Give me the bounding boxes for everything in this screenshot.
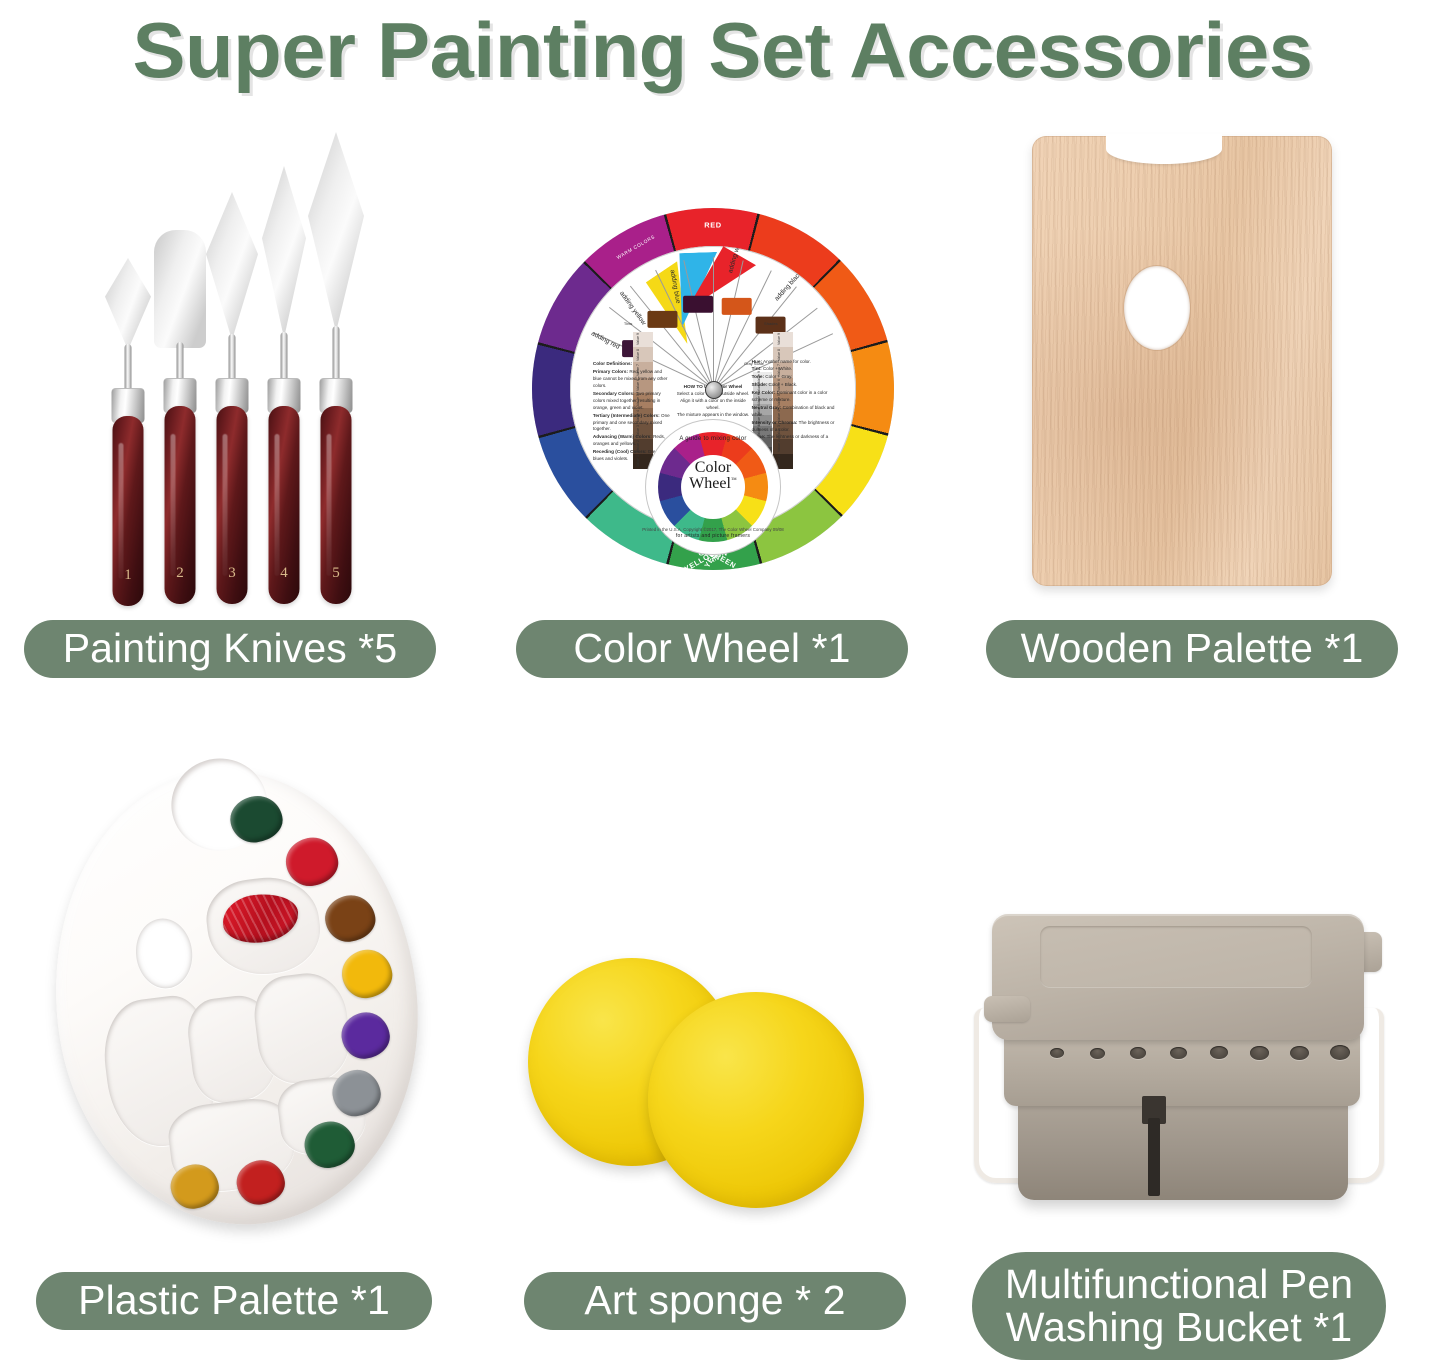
knife-number-label: 2	[165, 565, 196, 582]
value-scale-label: Value 9	[777, 333, 781, 345]
palette-knife-5: 5	[316, 120, 356, 610]
page-title: Super Painting Set Accessories	[0, 2, 1445, 98]
knife-shank	[333, 326, 340, 384]
product-plastic-palette	[30, 740, 450, 1260]
value-scale-label: Value 9	[636, 333, 640, 345]
trademark-symbol: ™	[731, 478, 737, 484]
bucket-base	[1018, 1090, 1348, 1200]
product-wooden-palette	[980, 120, 1420, 610]
label-color-wheel: Color Wheel *1	[516, 620, 908, 678]
bucket-lid-hinge	[984, 996, 1030, 1022]
knife-handle: 4	[269, 406, 300, 604]
knife-number-label: 1	[113, 567, 144, 584]
brush-hole	[1130, 1047, 1146, 1059]
color-wheel-illustration: REDRED-ORANGEORANGEYELLOW-ORANGEYELLOWYE…	[532, 208, 894, 570]
knife-number-label: 4	[269, 565, 300, 582]
wheel-mix-swatch	[647, 311, 677, 328]
brush-hole	[1250, 1046, 1269, 1060]
value-swatch: Value 9	[773, 332, 793, 347]
bucket-lid-inset	[1040, 926, 1312, 988]
wheel-mix-label: adding red	[590, 330, 621, 351]
palette-knife-4: 4	[264, 120, 304, 610]
knife-handle: 5	[321, 406, 352, 604]
palette-knife-1: 1	[108, 120, 148, 610]
product-washing-bucket	[940, 890, 1410, 1230]
wheel-footer: Printed in the U.S.A. Copyright ©2017, T…	[532, 527, 894, 532]
value-scale-caption: Tints	[624, 321, 633, 326]
color-wheel-hub	[705, 381, 723, 399]
color-wheel-center-disc: A guide to mixing color Color Wheel™ for…	[646, 420, 780, 554]
product-art-sponge	[500, 930, 920, 1260]
label-wooden-palette: Wooden Palette *1	[986, 620, 1398, 678]
sponge-disc	[648, 992, 864, 1208]
bucket-illustration	[954, 900, 1394, 1220]
wheel-mix-label: adding black	[773, 270, 803, 302]
wooden-palette-thumb-hole	[1124, 266, 1190, 350]
product-color-wheel: REDRED-ORANGEORANGEYELLOW-ORANGEYELLOWYE…	[500, 120, 920, 610]
painting-knives-illustration: 12345	[30, 120, 440, 610]
knife-number-label: 5	[321, 565, 352, 582]
label-art-sponge: Art sponge * 2	[524, 1272, 906, 1330]
color-terms-text: Hue: Another name for color.Tint: Color …	[752, 358, 835, 449]
knife-blade	[308, 132, 364, 332]
value-swatch: Value 9	[633, 332, 653, 347]
brush-hole	[1170, 1047, 1187, 1059]
product-painting-knives: 12345	[30, 120, 440, 610]
wheel-brand-line1: Color	[695, 459, 731, 476]
knife-handle: 1	[113, 416, 144, 606]
knife-blade	[154, 230, 206, 348]
plastic-palette-body	[30, 750, 443, 1245]
knife-blade	[206, 192, 258, 340]
wheel-mix-swatch	[683, 296, 713, 313]
wheel-segment-blue-violet: BLUE-VIOLET	[383, 523, 392, 579]
wooden-palette-board	[1032, 136, 1332, 586]
value-scale-label: Value 8	[636, 349, 640, 361]
label-painting-knives: Painting Knives *5	[24, 620, 436, 678]
brush-hole	[1090, 1048, 1105, 1059]
label-washing-bucket: Multifunctional Pen Washing Bucket *1	[972, 1252, 1386, 1360]
knife-blade	[105, 258, 151, 350]
wheel-subtagline: for artists and picture framers	[646, 533, 780, 539]
wheel-mix-label: adding yellow	[618, 290, 647, 326]
wheel-mix-swatch	[722, 298, 752, 315]
wheel-fan-line	[713, 257, 714, 389]
wooden-palette-notch	[1106, 134, 1222, 164]
knife-blade	[262, 166, 306, 338]
knife-handle: 3	[217, 406, 248, 604]
label-plastic-palette: Plastic Palette *1	[36, 1272, 432, 1330]
wheel-brand-line2: Wheel	[689, 475, 731, 492]
knife-handle: 2	[165, 406, 196, 604]
palette-knife-3: 3	[212, 120, 252, 610]
wheel-tagline: A guide to mixing color	[646, 436, 780, 442]
value-scale-caption: Shades	[764, 321, 778, 326]
palette-knife-2: 2	[160, 120, 200, 610]
wheel-segment-red: RED	[704, 221, 721, 230]
knife-number-label: 3	[217, 565, 248, 582]
bucket-slot	[1148, 1118, 1160, 1196]
